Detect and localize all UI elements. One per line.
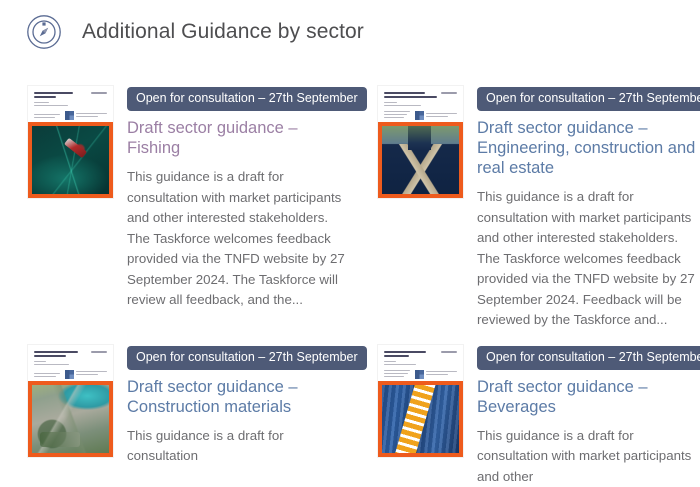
card-excerpt: This guidance is a draft for consultatio… (477, 187, 698, 331)
card-body: Open for consultation – 27th September D… (127, 86, 348, 331)
section-header: Additional Guidance by sector (0, 0, 700, 50)
guidance-cards-grid: Open for consultation – 27th September D… (0, 86, 700, 487)
cover-photo-beverages (382, 385, 459, 453)
card-title-link[interactable]: Draft sector guidance – Engineering, con… (477, 118, 698, 178)
cover-date-line (91, 351, 107, 353)
card-excerpt: This guidance is a draft for consultatio… (477, 426, 698, 487)
card-title-link[interactable]: Draft sector guidance – Construction mat… (127, 377, 348, 417)
guidance-card[interactable]: Open for consultation – 27th September D… (350, 86, 700, 331)
card-title-link[interactable]: Draft sector guidance – Beverages (477, 377, 698, 417)
cover-image-frame (378, 122, 463, 198)
document-cover-thumbnail[interactable] (378, 86, 463, 198)
cover-date-line (91, 92, 107, 94)
tnfd-logo-icon (415, 370, 424, 379)
compass-icon (26, 14, 62, 50)
tnfd-logo-icon (415, 111, 424, 120)
status-badge[interactable]: Open for consultation – 27th September (477, 346, 700, 370)
cover-header (378, 345, 463, 381)
guidance-card[interactable]: Open for consultation – 27th September D… (0, 345, 350, 487)
card-excerpt: This guidance is a draft for consultatio… (127, 167, 348, 311)
document-cover-thumbnail[interactable] (28, 86, 113, 198)
document-cover-thumbnail[interactable] (378, 345, 463, 457)
cover-footer (384, 370, 457, 379)
tnfd-logo-icon (65, 370, 74, 379)
cover-photo-engineering (382, 126, 459, 194)
card-row: Open for consultation – 27th September D… (0, 345, 700, 487)
cover-footer (34, 111, 107, 120)
tnfd-logo-icon (65, 111, 74, 120)
status-badge[interactable]: Open for consultation – 27th September (127, 87, 367, 111)
card-title-link[interactable]: Draft sector guidance – Fishing (127, 118, 348, 158)
status-badge[interactable]: Open for consultation – 27th September (127, 346, 367, 370)
cover-image-frame (28, 381, 113, 457)
document-cover-thumbnail[interactable] (28, 345, 113, 457)
cover-image-frame (378, 381, 463, 457)
cover-photo-construction-materials (32, 385, 109, 453)
cover-date-line (441, 351, 457, 353)
cover-header (28, 86, 113, 122)
cover-photo-fishing (32, 126, 109, 194)
card-row: Open for consultation – 27th September D… (0, 86, 700, 331)
card-body: Open for consultation – 27th September D… (127, 345, 348, 487)
cover-footer (34, 370, 107, 379)
guidance-card[interactable]: Open for consultation – 27th September D… (0, 86, 350, 331)
cover-footer (384, 111, 457, 120)
cover-image-frame (28, 122, 113, 198)
status-badge[interactable]: Open for consultation – 27th September (477, 87, 700, 111)
cover-header (378, 86, 463, 122)
card-body: Open for consultation – 27th September D… (477, 345, 698, 487)
page-title: Additional Guidance by sector (82, 19, 364, 45)
cover-header (28, 345, 113, 381)
card-body: Open for consultation – 27th September D… (477, 86, 698, 331)
cover-date-line (441, 92, 457, 94)
guidance-card[interactable]: Open for consultation – 27th September D… (350, 345, 700, 487)
card-excerpt: This guidance is a draft for consultatio… (127, 426, 348, 467)
